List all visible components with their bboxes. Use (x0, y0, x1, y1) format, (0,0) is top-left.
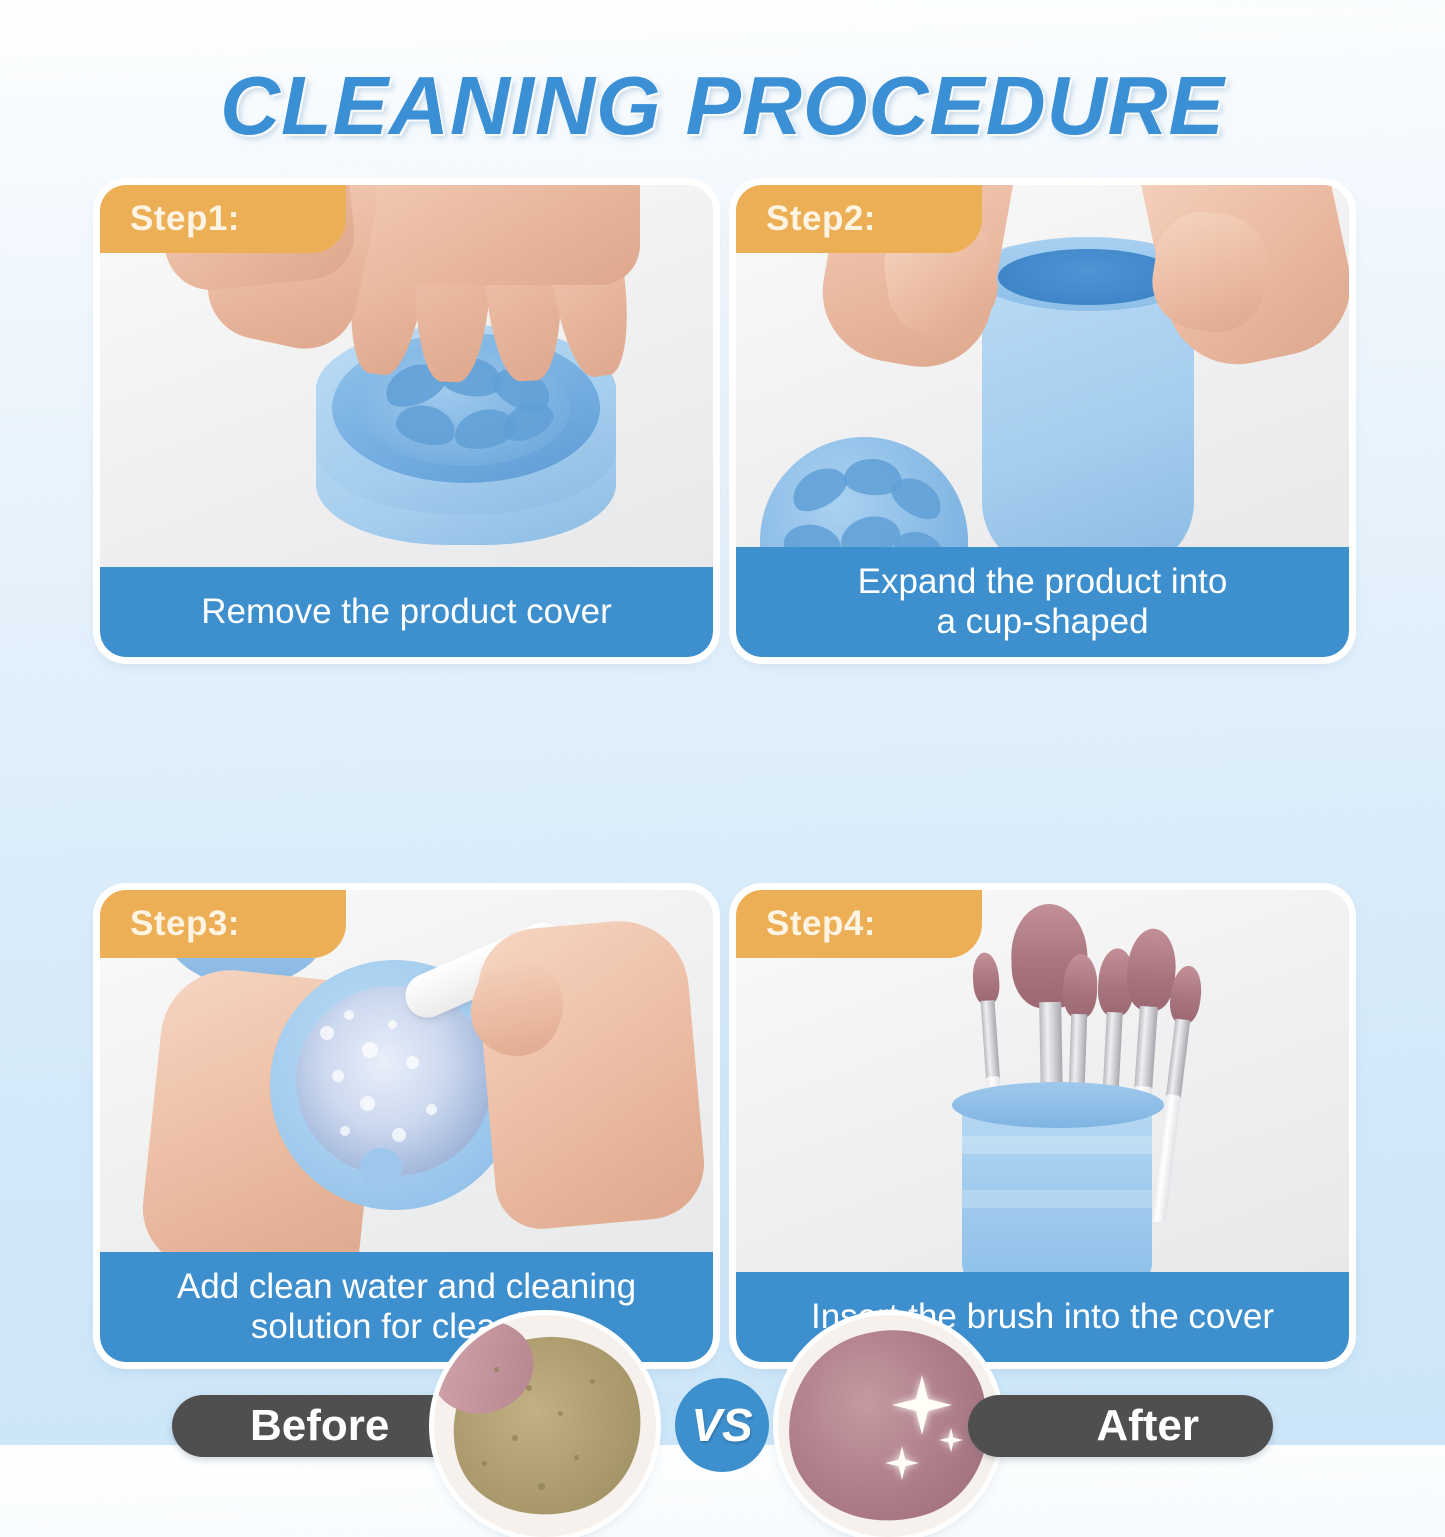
powder-speck (512, 1435, 518, 1441)
step-card-3: Step3: Add clean water and cleaning solu… (100, 890, 713, 1362)
powder-speck (538, 1483, 545, 1490)
powder-speck (558, 1411, 563, 1416)
step-2-caption-line-1: Expand the product into (858, 562, 1228, 601)
powder-speck (494, 1367, 499, 1372)
bubble (406, 1056, 419, 1069)
step-4-badge: Step4: (736, 890, 982, 958)
after-label: After (968, 1395, 1273, 1457)
powder-speck (590, 1379, 595, 1384)
brush-ferrule (981, 1000, 1000, 1079)
step-2-badge: Step2: (736, 185, 982, 253)
bubble (426, 1104, 437, 1115)
clean-brush-head (778, 1315, 1000, 1537)
brush-head (971, 952, 1001, 1006)
before-label: Before (172, 1395, 477, 1457)
soapy-water (296, 986, 492, 1176)
bubble (320, 1026, 334, 1040)
cup-fold-line (962, 1136, 1152, 1154)
bubble (332, 1070, 344, 1082)
step-3-caption-line-1: Add clean water and cleaning (177, 1267, 636, 1306)
step-card-4: Step4: Insert the brush into the cover (736, 890, 1349, 1362)
cup-interior (998, 249, 1178, 305)
powder-speck (482, 1461, 487, 1466)
brush-head (1062, 954, 1098, 1019)
page-title: CLEANING PROCEDURE (0, 58, 1445, 154)
brush-head (1167, 964, 1204, 1025)
bubble (344, 1010, 354, 1020)
bubble (362, 1042, 378, 1058)
powder-speck (574, 1455, 579, 1460)
step-1-caption: Remove the product cover (100, 567, 713, 657)
hand-back (340, 185, 640, 285)
cup-hang-tab (360, 1148, 402, 1188)
step-2-caption: Expand the product into a cup-shaped (736, 547, 1349, 657)
powder-speck (526, 1385, 532, 1391)
brush-ferrule (1134, 1006, 1158, 1089)
before-image (434, 1315, 656, 1537)
bubble (340, 1126, 350, 1136)
silicone-lid (952, 1082, 1164, 1128)
step-2-caption-line-2: a cup-shaped (936, 602, 1148, 641)
brush-ferrule (1166, 1019, 1190, 1098)
step-card-1: Step1: Remove the product cover (100, 185, 713, 657)
before-after-comparison: Before After VS (0, 655, 1445, 895)
lid-petal (785, 459, 853, 519)
vs-badge: VS (675, 1378, 769, 1472)
step-card-2: Step2: Expand the product into a cup-sha… (736, 185, 1349, 657)
bubble (392, 1128, 406, 1142)
bubble (360, 1096, 375, 1111)
bubble (388, 1020, 397, 1029)
step-1-badge: Step1: (100, 185, 346, 253)
step-3-badge: Step3: (100, 890, 346, 958)
after-image (778, 1315, 1000, 1537)
cup-fold-line (962, 1190, 1152, 1208)
